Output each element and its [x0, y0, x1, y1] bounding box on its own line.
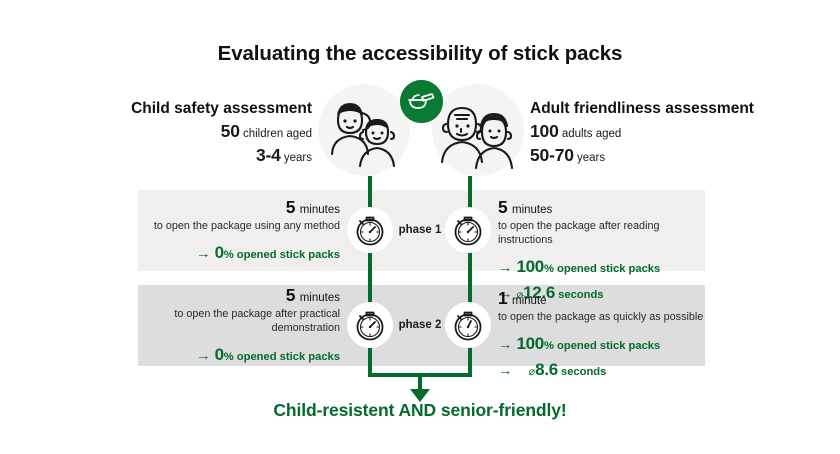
result-arrow-icon: →: [498, 363, 513, 379]
result-line: →100% opened stick packs: [498, 254, 708, 280]
stickpack-pouring-into-bowl-icon: [400, 80, 443, 123]
children-avatar-group: [318, 84, 410, 176]
child-age-range: 3-4: [256, 145, 281, 165]
phase-1-child-results: →0% opened stick packs: [140, 240, 340, 266]
adult-count-label: adults aged: [562, 128, 621, 140]
seniors-avatar-group: [432, 84, 524, 176]
duration-value: 5: [498, 197, 508, 217]
page-title: Evaluating the accessibility of stick pa…: [0, 42, 840, 66]
result-line: →100% opened stick packs: [498, 331, 708, 357]
result-value: 100: [517, 334, 544, 353]
result-unit: % opened stick packs: [224, 351, 340, 363]
assessment-title-left: Child safety assessment: [0, 100, 312, 119]
phase-2-child-results: →0% opened stick packs: [140, 342, 340, 368]
duration-unit: minutes: [300, 204, 340, 216]
infographic-canvas: Evaluating the accessibility of stick pa…: [0, 0, 840, 454]
result-arrow-icon: →: [498, 337, 513, 353]
two-children-faces-icon: [318, 84, 410, 176]
phase-1-adult-duration: 5 minutes: [498, 197, 708, 218]
duration-value: 5: [286, 285, 296, 305]
result-value: 100: [517, 257, 544, 276]
conclusion-arrow-head-icon: [410, 389, 430, 402]
result-line: →⌀8.6 seconds: [498, 357, 708, 383]
phase-2-label: phase 2: [380, 319, 460, 331]
result-unit: % opened stick packs: [544, 340, 660, 352]
phase-2-child-duration: 5 minutes: [140, 285, 340, 306]
conclusion-text: Child-resistent AND senior-friendly!: [0, 400, 840, 421]
phase-2-child-result: 5 minutes to open the package after prac…: [140, 285, 340, 368]
duration-value: 1: [498, 288, 508, 308]
result-unit: seconds: [558, 366, 607, 378]
adult-count: 100: [530, 121, 559, 141]
phase-1-child-duration: 5 minutes: [140, 197, 340, 218]
duration-unit: minute: [512, 295, 547, 307]
phase-2-adult-result: 1 minute to open the package as quickly …: [498, 288, 708, 383]
child-safety-assessment-heading: Child safety assessment 50 children aged…: [0, 100, 318, 168]
result-line: →0% opened stick packs: [140, 240, 340, 266]
result-value: 0: [215, 345, 224, 364]
assessment-age-right: 50-70 years: [530, 143, 840, 168]
child-count-label: children aged: [243, 128, 312, 140]
result-unit: % opened stick packs: [544, 263, 660, 275]
duration-value: 5: [286, 197, 296, 217]
result-value: 8.6: [535, 360, 558, 379]
result-arrow-icon: →: [196, 246, 211, 262]
adult-age-unit: years: [577, 152, 605, 164]
brand-badge: [400, 80, 443, 123]
assessment-title-right: Adult friendliness assessment: [530, 100, 840, 119]
phase-2-adult-results: →100% opened stick packs →⌀8.6 seconds: [498, 331, 708, 383]
assessment-count-right: 100 adults aged: [530, 119, 840, 144]
result-value: 0: [215, 243, 224, 262]
child-count: 50: [221, 121, 240, 141]
child-age-unit: years: [284, 152, 312, 164]
adult-friendliness-assessment-heading: Adult friendliness assessment 100 adults…: [524, 100, 840, 168]
two-senior-faces-icon: [432, 84, 524, 176]
phase-1-child-result: 5 minutes to open the package using any …: [140, 197, 340, 266]
adult-age-range: 50-70: [530, 145, 574, 165]
duration-unit: minutes: [300, 292, 340, 304]
duration-unit: minutes: [512, 204, 552, 216]
result-arrow-icon: →: [498, 260, 513, 276]
phase-2-adult-duration: 1 minute: [498, 288, 708, 309]
phase-1-label: phase 1: [380, 224, 460, 236]
phase-1-adult-task: to open the package after reading instru…: [498, 219, 708, 247]
assessment-age-left: 3-4 years: [0, 143, 312, 168]
result-unit: % opened stick packs: [224, 249, 340, 261]
phase-1-child-task: to open the package using any method: [140, 219, 340, 233]
assessment-count-left: 50 children aged: [0, 119, 312, 144]
phase-2-adult-task: to open the package as quickly as possib…: [498, 310, 708, 324]
phase-2-child-task: to open the package after practical demo…: [140, 307, 340, 335]
result-line: →0% opened stick packs: [140, 342, 340, 368]
result-arrow-icon: →: [196, 348, 211, 364]
